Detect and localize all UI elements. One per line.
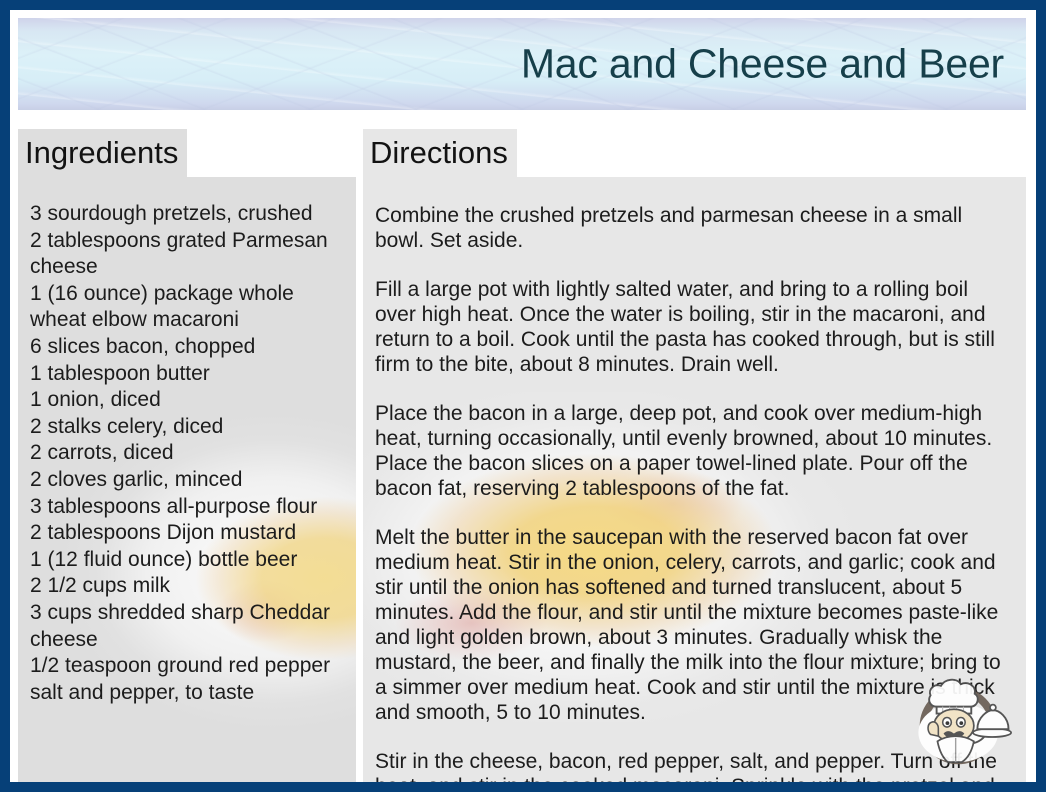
page-surface: Mac and Cheese and Beer Ingredients Dire… <box>10 10 1036 782</box>
ingredient-item: 2 tablespoons grated Parmesan cheese <box>30 228 350 281</box>
ingredient-item: 2 carrots, diced <box>30 440 350 467</box>
ingredient-item: 1 (12 fluid ounce) bottle beer <box>30 547 350 574</box>
ingredient-item: 2 stalks celery, diced <box>30 414 350 441</box>
ingredient-item: 1 tablespoon butter <box>30 361 350 388</box>
ingredient-item: 3 sourdough pretzels, crushed <box>30 201 350 228</box>
ingredient-item: 1 onion, diced <box>30 387 350 414</box>
direction-step: Fill a large pot with lightly salted wat… <box>375 277 1008 377</box>
ingredients-list: 3 sourdough pretzels, crushed2 tablespoo… <box>18 177 356 706</box>
ingredient-item: 1 (16 ounce) package whole wheat elbow m… <box>30 281 350 334</box>
ingredient-item: 1/2 teaspoon ground red pepper <box>30 653 350 680</box>
directions-panel: Combine the crushed pretzels and parmesa… <box>363 177 1026 782</box>
ingredients-heading: Ingredients <box>18 129 187 177</box>
ingredient-item: salt and pepper, to taste <box>30 680 350 707</box>
recipe-slide: Mac and Cheese and Beer Ingredients Dire… <box>0 0 1046 792</box>
directions-steps: Combine the crushed pretzels and parmesa… <box>363 177 1026 782</box>
direction-step: Combine the crushed pretzels and parmesa… <box>375 203 1008 253</box>
ingredient-item: 6 slices bacon, chopped <box>30 334 350 361</box>
ingredient-item: 2 cloves garlic, minced <box>30 467 350 494</box>
page-title: Mac and Cheese and Beer <box>521 42 1004 85</box>
ingredient-item: 3 tablespoons all-purpose flour <box>30 494 350 521</box>
direction-step: Melt the butter in the saucepan with the… <box>375 525 1008 725</box>
ingredient-item: 2 1/2 cups milk <box>30 573 350 600</box>
direction-step: Place the bacon in a large, deep pot, an… <box>375 401 1008 501</box>
ingredients-panel: 3 sourdough pretzels, crushed2 tablespoo… <box>18 177 356 782</box>
title-banner: Mac and Cheese and Beer <box>18 18 1026 110</box>
directions-heading: Directions <box>363 129 517 177</box>
ingredient-item: 2 tablespoons Dijon mustard <box>30 520 350 547</box>
ingredient-item: 3 cups shredded sharp Cheddar cheese <box>30 600 350 653</box>
direction-step: Stir in the cheese, bacon, red pepper, s… <box>375 749 1008 782</box>
